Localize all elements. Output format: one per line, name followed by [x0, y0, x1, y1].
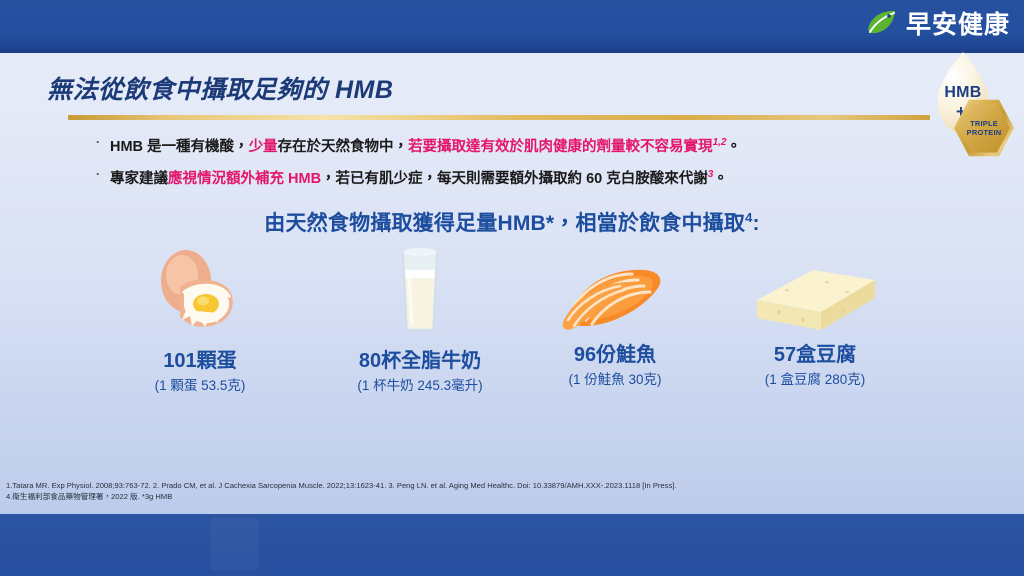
brand-logo: 早安健康 [864, 5, 1010, 41]
food-serving: (1 盒豆腐 280克) [700, 368, 930, 388]
bullet-1-text: HMB 是一種有機酸，少量存在於天然食物中，若要攝取達有效於肌肉健康的劑量較不容… [110, 131, 741, 159]
food-equivalents-row: 101顆蛋 (1 顆蛋 53.5克) 80杯全脂牛奶 (1 杯牛奶 245.3毫… [0, 246, 1024, 396]
bullet-1-highlight1: 少量 [249, 139, 278, 155]
badge-triple-label: TRIPLE [970, 120, 998, 128]
bullet-1-part2: 存在於天然食物中， [278, 139, 409, 155]
bullet-2-part1: 專家建議 [110, 171, 168, 187]
tofu-icon [700, 246, 930, 336]
gold-divider [68, 115, 930, 120]
watermark [210, 518, 258, 570]
footnote-references: 1.Tatara MR. Exp Physiol. 2008;93:763-72… [6, 481, 1006, 502]
bullet-2-part2: ，若已有肌少症，每天則需要額外攝取約 60 克白胺酸來代謝 [321, 171, 708, 187]
food-item-tofu: 57盒豆腐 (1 盒豆腐 280克) [700, 246, 930, 388]
food-name: 101顆蛋 [85, 344, 315, 373]
salmon-icon [500, 246, 730, 336]
brand-name: 早安健康 [906, 5, 1010, 41]
food-serving: (1 份鮭魚 30克) [500, 368, 730, 388]
subheading-superscript: 4 [745, 210, 752, 225]
top-header-bar: 早安健康 [0, 0, 1024, 53]
egg-icon [85, 246, 315, 336]
footnote-line-2: 4.衛生福利部食品藥物管理署，2022 版. *3g HMB [6, 492, 1006, 503]
food-item-egg: 101顆蛋 (1 顆蛋 53.5克) [85, 246, 315, 394]
bullet-item-1: · HMB 是一種有機酸，少量存在於天然食物中，若要攝取達有效於肌肉健康的劑量較… [96, 131, 926, 159]
bullet-1-superscript: 1,2 [713, 137, 727, 148]
food-serving: (1 顆蛋 53.5克) [85, 374, 315, 394]
food-name: 57盒豆腐 [700, 338, 930, 367]
bullet-2-highlight1: 應視情況額外補充 HMB [168, 171, 321, 187]
slide-root: 早安健康 HMB + TRIPLE PROTEIN 無法從飲食中攝取足夠的 HM… [0, 0, 1024, 576]
bullet-item-2: · 專家建議應視情況額外補充 HMB，若已有肌少症，每天則需要額外攝取約 60 … [96, 163, 926, 191]
badge-hmb-label: HMB [930, 84, 996, 102]
bullet-1-part1: HMB 是一種有機酸， [110, 139, 249, 155]
bullet-list: · HMB 是一種有機酸，少量存在於天然食物中，若要攝取達有效於肌肉健康的劑量較… [96, 131, 926, 195]
bullet-1-highlight2: 若要攝取達有效於肌肉健康的劑量較不容易實現 [408, 139, 713, 155]
subheading-colon: : [753, 212, 760, 235]
bottom-bar [0, 514, 1024, 576]
leaf-logo-icon [864, 8, 898, 38]
food-name: 96份鮭魚 [500, 338, 730, 367]
bullet-1-tail: 。 [726, 139, 741, 155]
subheading-text: 由天然食物攝取獲得足量HMB*，相當於飲食中攝取 [264, 212, 745, 235]
bullet-2-text: 專家建議應視情況額外補充 HMB，若已有肌少症，每天則需要額外攝取約 60 克白… [110, 163, 728, 191]
section-subheading: 由天然食物攝取獲得足量HMB*，相當於飲食中攝取4: [0, 207, 1024, 237]
page-title: 無法從飲食中攝取足夠的 HMB [47, 70, 393, 106]
footnote-line-1: 1.Tatara MR. Exp Physiol. 2008;93:763-72… [6, 481, 1006, 492]
hmb-triple-protein-badge: HMB + TRIPLE PROTEIN [920, 52, 1016, 162]
bullet-marker: · [96, 163, 110, 186]
bullet-marker: · [96, 131, 110, 154]
badge-protein-label: PROTEIN [967, 129, 1002, 137]
food-item-salmon: 96份鮭魚 (1 份鮭魚 30克) [500, 246, 730, 388]
bullet-2-tail: 。 [713, 171, 728, 187]
